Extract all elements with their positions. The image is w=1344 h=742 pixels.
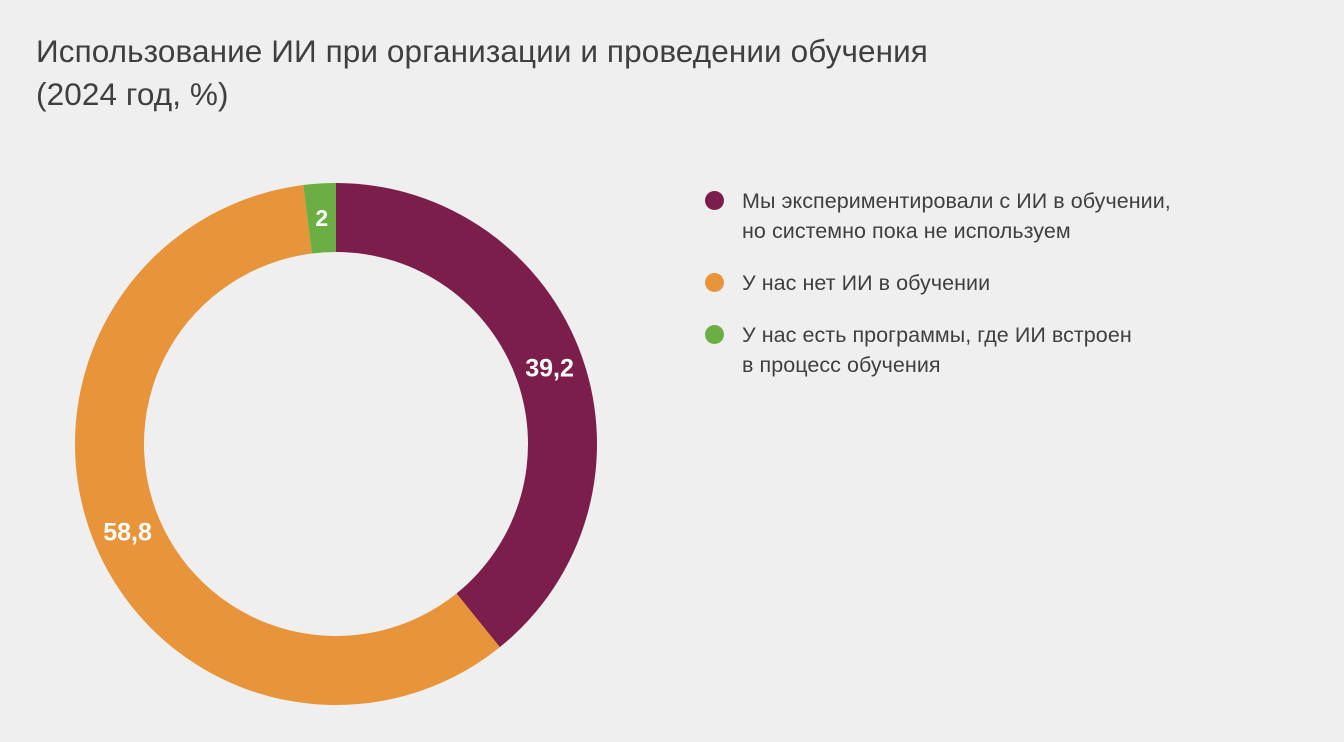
- legend-item-label: Мы экспериментировали с ИИ в обучении, н…: [742, 186, 1171, 246]
- donut-chart: 39,258,82: [0, 0, 700, 742]
- legend-swatch-icon: [705, 273, 724, 292]
- legend-item-no-ai[interactable]: У нас нет ИИ в обучении: [705, 268, 1325, 298]
- donut-chart-svg: 39,258,82: [0, 0, 700, 742]
- donut-label-embedded: 2: [315, 205, 328, 231]
- donut-label-experimented: 39,2: [525, 355, 574, 383]
- legend-item-experimented[interactable]: Мы экспериментировали с ИИ в обучении, н…: [705, 186, 1325, 246]
- legend-item-label: У нас нет ИИ в обучении: [742, 268, 990, 298]
- chart-page: Использование ИИ при организации и прове…: [0, 0, 1344, 742]
- donut-label-no-ai: 58,8: [103, 519, 152, 547]
- donut-slice-experimented[interactable]: [336, 183, 597, 647]
- legend-item-label: У нас есть программы, где ИИ встроен в п…: [742, 320, 1132, 380]
- legend-swatch-icon: [705, 191, 724, 210]
- chart-legend: Мы экспериментировали с ИИ в обучении, н…: [705, 186, 1325, 380]
- legend-item-embedded[interactable]: У нас есть программы, где ИИ встроен в п…: [705, 320, 1325, 380]
- donut-slices: [75, 183, 597, 705]
- legend-swatch-icon: [705, 325, 724, 344]
